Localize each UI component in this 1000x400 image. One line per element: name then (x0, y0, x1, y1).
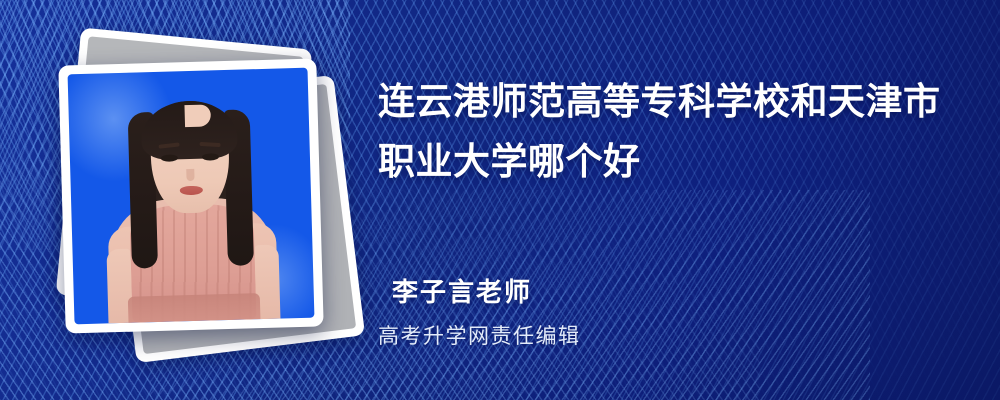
author-photo (68, 68, 315, 325)
banner-title: 连云港师范高等专科学校和天津市 职业大学哪个好 (378, 72, 958, 192)
portrait-illustration (68, 68, 315, 325)
article-header-banner: 连云港师范高等专科学校和天津市 职业大学哪个好 李子言老师 高考升学网责任编辑 (0, 0, 1000, 400)
banner-title-line-1: 连云港师范高等专科学校和天津市 (378, 81, 941, 122)
author-photo-card (58, 58, 323, 333)
banner-text-column: 连云港师范高等专科学校和天津市 职业大学哪个好 李子言老师 高考升学网责任编辑 (378, 0, 978, 400)
portrait-dress-waistband (128, 293, 261, 323)
photo-card-stack (62, 36, 330, 336)
banner-title-line-2: 职业大学哪个好 (378, 141, 641, 182)
portrait-nose (186, 169, 194, 181)
author-role: 高考升学网责任编辑 (378, 320, 581, 350)
author-name: 李子言老师 (392, 272, 532, 309)
